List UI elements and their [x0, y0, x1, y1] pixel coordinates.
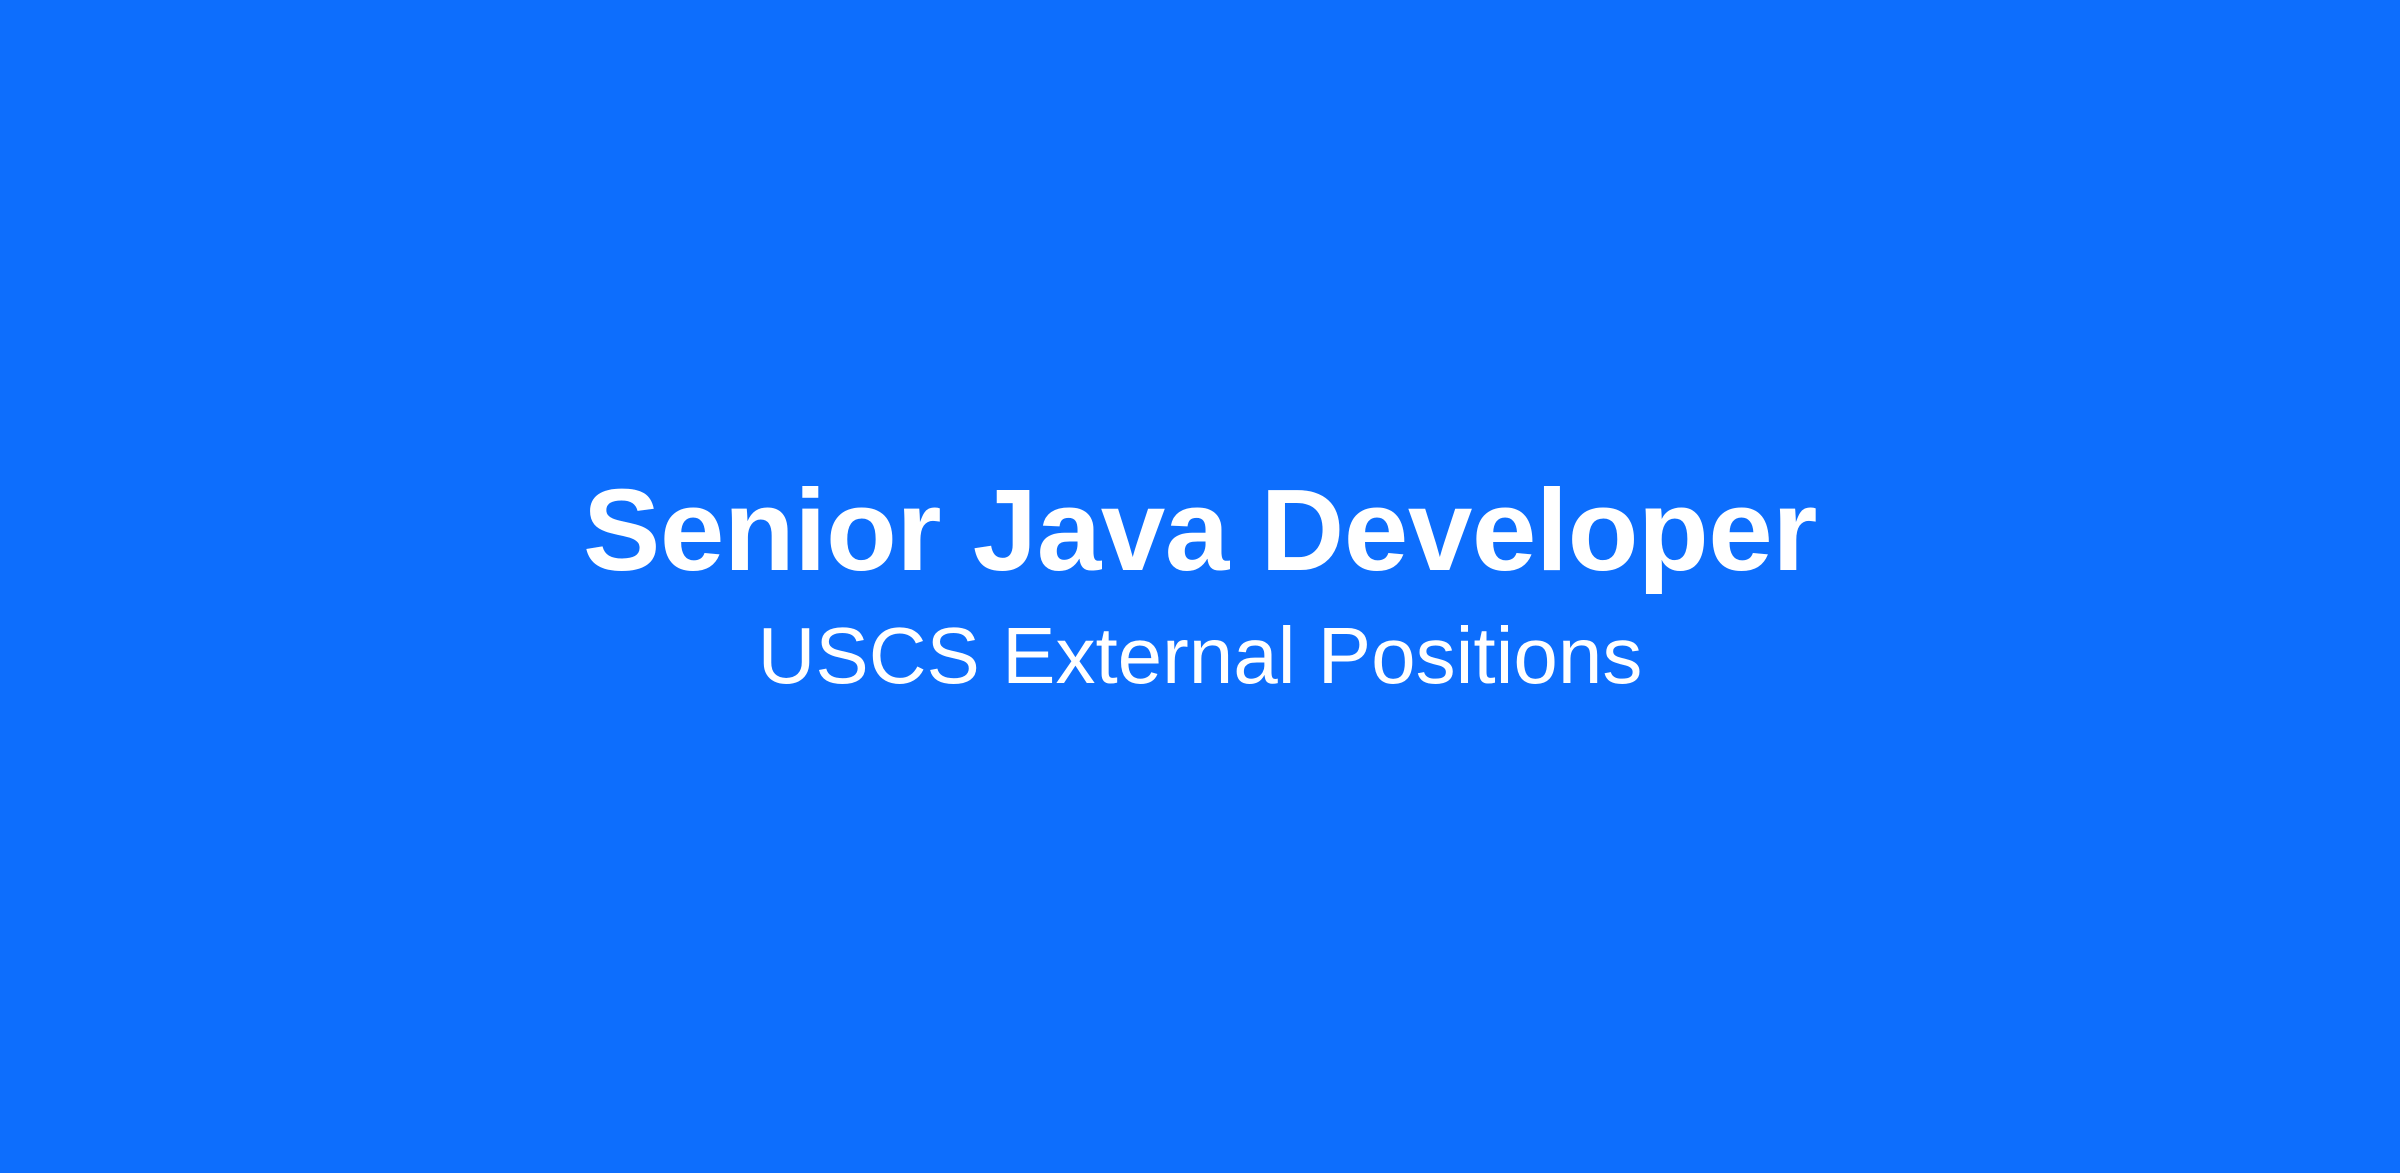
heading-group: Senior Java Developer USCS External Posi… — [583, 462, 1817, 703]
job-title: Senior Java Developer — [583, 462, 1817, 599]
job-subtitle: USCS External Positions — [758, 609, 1643, 703]
job-posting-banner: Senior Java Developer USCS External Posi… — [0, 0, 2400, 1173]
